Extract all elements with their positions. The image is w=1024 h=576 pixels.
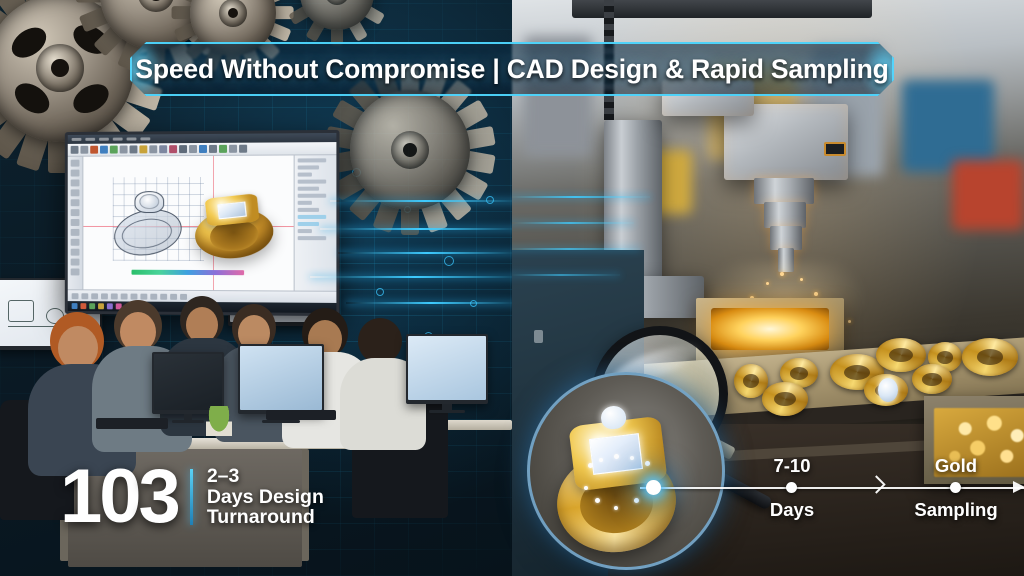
stat-detail: 2–3 Days Design Turnaround — [207, 466, 324, 528]
cad-workstation-display[interactable] — [65, 130, 340, 316]
timeline-node-gold[interactable] — [950, 482, 961, 493]
page-title: Speed Without Compromise | CAD Design & … — [135, 54, 888, 85]
data-bridge-r4 — [512, 274, 620, 276]
timeline-node-start[interactable] — [646, 480, 661, 495]
title-banner: Speed Without Compromise | CAD Design & … — [130, 42, 894, 96]
gem-pendant-2 — [878, 378, 898, 402]
stat-detail-line-2: Days Design — [207, 487, 324, 508]
timeline-label-gold-bottom: Sampling — [906, 499, 1006, 521]
data-bridge-r3 — [512, 248, 640, 250]
data-bridge-5 — [346, 302, 512, 304]
gold-ring-8 — [962, 338, 1018, 376]
gear-right — [350, 90, 470, 210]
gold-ring-7 — [912, 364, 952, 394]
process-timeline: 7-10 Days Gold Sampling — [640, 486, 1024, 490]
keyboard-1 — [96, 418, 168, 429]
promotional-banner-image: Speed Without Compromise | CAD Design & … — [0, 0, 1024, 576]
cabinet-lock — [534, 330, 543, 343]
rendered-gold-ring — [188, 191, 281, 261]
data-bridge-r1 — [512, 196, 650, 198]
cnc-spindle-stage-2 — [764, 202, 806, 228]
timeline-arrowhead-icon — [1013, 481, 1024, 493]
cad-color-ramp[interactable] — [131, 270, 245, 275]
stat-detail-line-3: Turnaround — [207, 507, 324, 528]
timeline-label-sampling-bottom: Days — [760, 499, 824, 521]
data-bridge-1 — [330, 200, 512, 202]
cad-viewport[interactable] — [83, 155, 293, 290]
desk-monitor-1 — [152, 352, 224, 414]
cnc-spindle-stage-1 — [754, 178, 814, 204]
cnc-indicator-light — [824, 142, 846, 156]
cad-properties-panel[interactable] — [294, 155, 337, 291]
gold-ring-3 — [762, 382, 808, 416]
stat-block: 10 3 2–3 Days Design Turnaround — [60, 462, 324, 532]
keyboard-2 — [266, 410, 336, 420]
stat-divider — [190, 469, 193, 525]
timeline-track — [640, 487, 1024, 489]
desk-monitor-3 — [406, 334, 488, 404]
stat-number-secondary: 3 — [139, 462, 178, 532]
timeline-label-sampling-top: 7-10 — [760, 455, 824, 477]
stat-detail-line-1: 2–3 — [207, 466, 324, 487]
data-bridge-3 — [338, 252, 512, 254]
gear-small-top — [300, 0, 374, 30]
cnc-spindle-stage-3 — [770, 226, 802, 250]
wireframe-ring-sketch — [108, 185, 196, 257]
stat-number-primary: 10 — [60, 462, 139, 532]
overhead-gantry — [572, 0, 872, 18]
cad-tool-palette[interactable] — [68, 157, 84, 290]
ring-closeup-inset — [527, 372, 725, 570]
data-bridge-4 — [310, 276, 512, 278]
timeline-label-gold-top: Gold — [914, 455, 998, 477]
data-bridge-2 — [320, 228, 512, 230]
desk-monitor-2 — [238, 344, 324, 414]
timeline-node-sampling[interactable] — [786, 482, 797, 493]
desk-plant — [206, 406, 232, 436]
data-bridge-r2 — [512, 222, 634, 224]
